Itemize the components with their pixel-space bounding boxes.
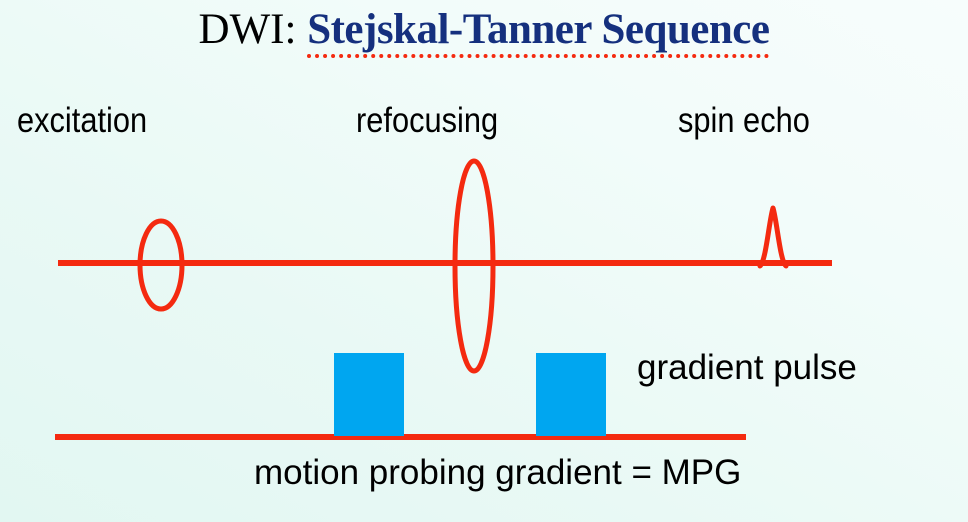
gradient-pulse-block-1 xyxy=(334,353,404,436)
slide-canvas: DWI: Stejskal-Tanner Sequence excitation… xyxy=(0,0,968,522)
label-excitation: excitation xyxy=(17,101,147,141)
gradient-pulse-block-2 xyxy=(536,353,606,436)
excitation-pulse-icon xyxy=(134,218,188,312)
page-title: DWI: Stejskal-Tanner Sequence xyxy=(0,8,968,58)
mpg-caption: motion probing gradient = MPG xyxy=(254,453,741,493)
label-refocusing: refocusing xyxy=(356,101,498,141)
title-prefix: DWI: xyxy=(199,6,297,53)
title-emphasis: Stejskal-Tanner Sequence xyxy=(307,8,769,58)
gradient-pulse-label: gradient pulse xyxy=(637,348,857,388)
label-spin-echo: spin echo xyxy=(678,101,810,141)
spin-echo-pulse-icon xyxy=(752,203,796,269)
refocusing-pulse-icon xyxy=(448,158,500,374)
